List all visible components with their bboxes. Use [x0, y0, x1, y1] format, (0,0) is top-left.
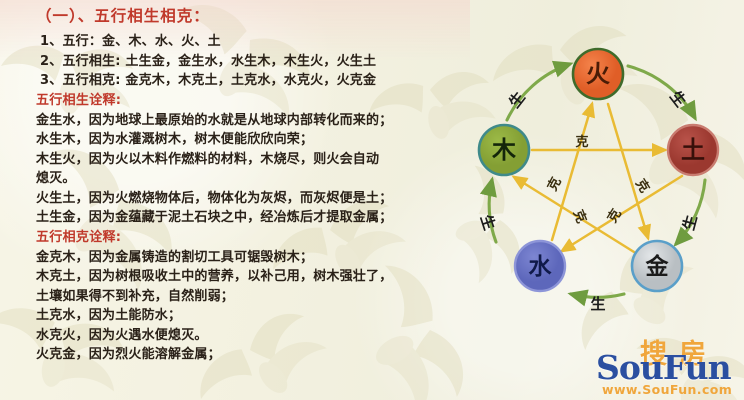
text-line: 火克金，因为烈火能溶解金属； — [36, 345, 456, 365]
section-body-ke: 金克木，因为金属铸造的割切工具可锯毁树木； 木克土，因为树根吸收土中的营养，以补… — [36, 248, 456, 365]
text-line: 土生金，因为金蕴藏于泥土石块之中，经冶炼后才提取金属； — [36, 208, 456, 228]
section-body-sheng: 金生水，因为地球上最原始的水就是从地球内部转化而来的； 水生木，因为水灌溉树木，… — [36, 111, 456, 228]
node-label-wood: 木 — [491, 136, 517, 164]
text-line: 水克火，因为火遇水便熄灭。 — [36, 326, 456, 346]
text-line: 水生木，因为水灌溉树木，树木便能欣欣向荣； — [36, 130, 456, 150]
text-line: 土壤如果得不到补充，自然削弱； — [36, 287, 456, 307]
text-line: 木克土，因为树根吸收土中的营养，以补己用，树木强壮了， — [36, 267, 456, 287]
node-label-metal: 金 — [645, 253, 670, 280]
text-line: 木生火，因为火以木料作燃料的材料，木烧尽，则火会自动 — [36, 150, 456, 170]
text-line: 土克水，因为土能防水； — [36, 306, 456, 326]
page-title: （一）、五行相生相克： — [36, 4, 456, 26]
node-fire[interactable]: 火 — [573, 49, 623, 99]
node-wood[interactable]: 木 — [479, 125, 529, 175]
sheng-arc-water-wood — [489, 180, 496, 242]
node-label-earth: 土 — [681, 136, 705, 164]
node-label-water: 水 — [529, 254, 553, 280]
sheng-label: 生 — [590, 295, 605, 313]
list-item: 1、五行：金、木、水、火、土 — [36, 32, 456, 52]
ke-label: 克 — [575, 134, 588, 150]
text-line: 熄灭。 — [36, 169, 456, 189]
sheng-label: 生 — [477, 213, 499, 233]
sheng-label: 生 — [680, 213, 701, 232]
list-item: 2、五行相生: 土生金，金生水，水生木，木生火，火生土 — [36, 52, 456, 72]
node-label-fire: 火 — [586, 60, 610, 88]
text-line: 金克木，因为金属铸造的割切工具可锯毁树木； — [36, 248, 456, 268]
text-line: 金生水，因为地球上最原始的水就是从地球内部转化而来的； — [36, 111, 456, 131]
section-title-ke: 五行相克诠释: — [36, 228, 456, 248]
wuxing-diagram: 生 生 生 生 生 克 克 克 克 克 火 土 — [452, 28, 744, 324]
ke-label: 克 — [544, 175, 564, 194]
soufun-logo[interactable]: 搜房 SouFun www.SouFun.com — [596, 334, 744, 396]
node-earth[interactable]: 土 — [668, 125, 718, 175]
logo-url: www.SouFun.com — [602, 382, 732, 397]
page-root: （一）、五行相生相克： 1、五行：金、木、水、火、土 2、五行相生: 土生金，金… — [0, 0, 744, 400]
text-line: 火生土，因为火燃烧物体后，物体化为灰烬，而灰烬便是土； — [36, 189, 456, 209]
section-title-sheng: 五行相生诠释: — [36, 91, 456, 111]
list-item: 3、五行相克: 金克木，木克土，土克水，水克火，火克金 — [36, 71, 456, 91]
numbered-list: 1、五行：金、木、水、火、土 2、五行相生: 土生金，金生水，水生木，木生火，火… — [36, 32, 456, 91]
sheng-arc-earth-metal — [676, 180, 705, 244]
article-text: （一）、五行相生相克： 1、五行：金、木、水、火、土 2、五行相生: 土生金，金… — [36, 4, 456, 365]
node-water[interactable]: 水 — [515, 241, 565, 291]
node-metal[interactable]: 金 — [632, 241, 682, 291]
